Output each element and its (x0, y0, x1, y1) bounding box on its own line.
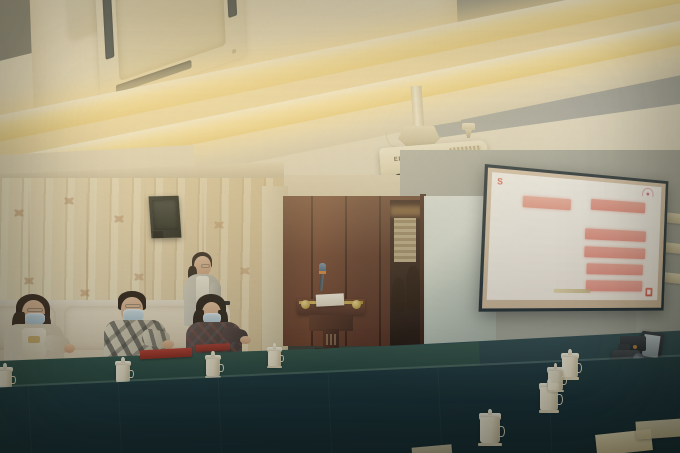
slide-logo: S (497, 177, 503, 187)
curtain-motif (238, 264, 251, 277)
ac-vent-left (102, 0, 114, 60)
window-blind (394, 218, 416, 262)
slide-title-tag (523, 196, 571, 210)
attendee-3-hand (240, 336, 251, 344)
attendee-1-hand (64, 344, 75, 353)
background-figure (406, 266, 420, 310)
podium (297, 285, 365, 353)
ac-screw (232, 49, 236, 54)
curtain-motif (62, 194, 75, 207)
teacup (548, 366, 563, 392)
wireless-handheld-microphone-icon (319, 263, 326, 291)
tablecloth-fold (118, 382, 124, 453)
curtain-motif (12, 206, 25, 219)
attendee-2-glasses (125, 304, 141, 308)
tablecloth-fold (218, 377, 224, 453)
projected-slide: S (487, 172, 662, 300)
slide-tag-1 (585, 228, 646, 242)
wall-mounted-loudspeaker (149, 196, 182, 238)
slide-tag-3 (587, 263, 644, 275)
slide-tag-2 (584, 246, 645, 259)
microphone-ring (319, 271, 326, 274)
curtain-motif (112, 212, 125, 225)
tablecloth-fold (328, 372, 334, 453)
microphone-stem (319, 273, 324, 291)
curtain-motif (212, 218, 225, 231)
tablecloth-fold (28, 386, 34, 453)
slide-tag-4 (586, 280, 643, 292)
curtain-motif (22, 274, 35, 287)
background-figure (392, 278, 405, 312)
slide-footer-bar (553, 289, 590, 293)
podium-finial-left (301, 300, 310, 309)
projector-mount-pole (410, 86, 424, 131)
slide-arc-decoration-icon (642, 187, 654, 196)
curtain-motif (132, 270, 145, 283)
slide-corner-mark-icon (645, 288, 652, 297)
speaker-bracket (153, 231, 164, 238)
ac-vent-right (225, 0, 237, 18)
teacup (206, 354, 220, 378)
presenter-glasses (201, 264, 210, 268)
attendee-1-glasses (27, 308, 43, 312)
podium-finial-right (352, 300, 361, 309)
doorway-gap (390, 200, 422, 352)
podium-rib (330, 334, 332, 345)
speaker-grille (152, 200, 178, 230)
attendee-1-print (28, 336, 40, 343)
slide-tag-0 (591, 199, 646, 213)
attendee-1-top (22, 328, 46, 358)
podium-column (323, 329, 339, 349)
podium-rib (326, 334, 328, 345)
teacup (480, 412, 500, 446)
conference-room-photo: EPSON (0, 0, 680, 453)
recorder-knob (633, 345, 637, 349)
teacup (268, 346, 281, 368)
podium-rib (334, 334, 336, 345)
doorway-light (390, 206, 422, 216)
tablecloth-fold (437, 367, 443, 453)
printed-document (635, 418, 680, 439)
projection-screen: S (479, 164, 669, 312)
podium-nameplate (316, 293, 345, 306)
